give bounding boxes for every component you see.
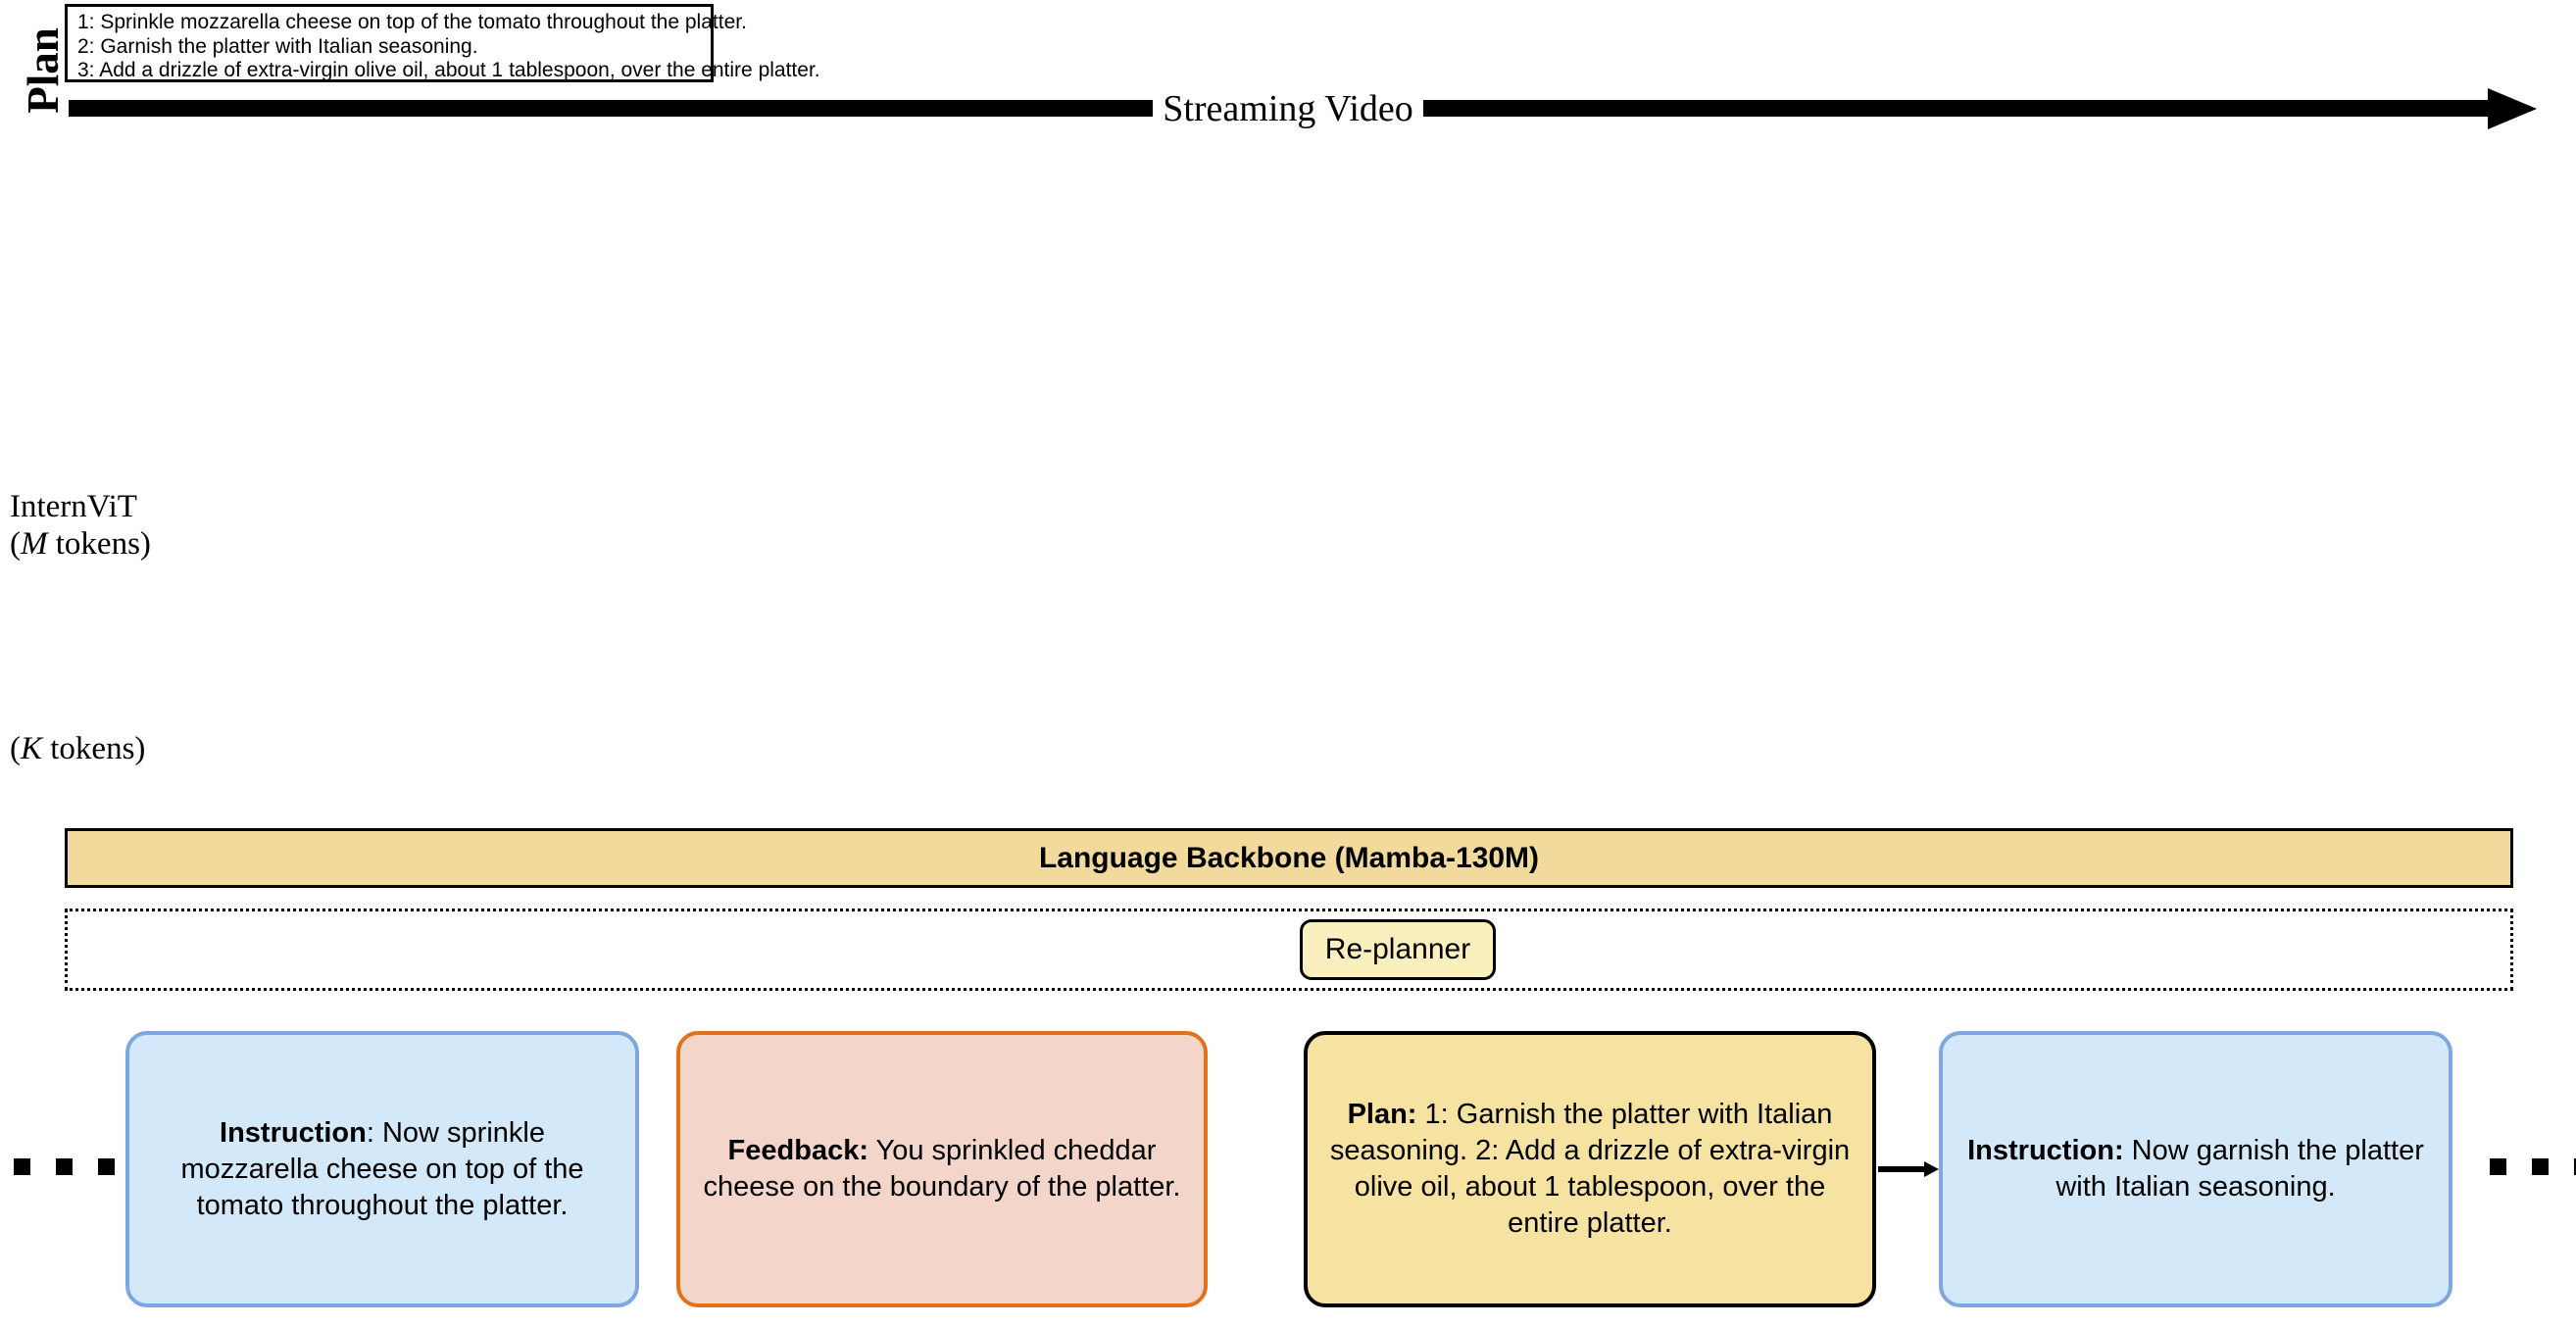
streaming-video-label: Streaming Video [1153, 88, 1423, 129]
card-bold-label: Instruction [220, 1117, 367, 1149]
replanner-label: Re-planner [1325, 933, 1470, 966]
plan-line-1: 1: Sprinkle mozzarella cheese on top of … [77, 11, 703, 35]
replanner-box[interactable]: Re-planner [1300, 919, 1496, 980]
dot [14, 1158, 30, 1175]
ellipsis-left [14, 1158, 115, 1175]
language-backbone-label: Language Backbone (Mamba-130M) [1039, 842, 1539, 875]
internvit-label: InternViT (M tokens) [10, 488, 151, 563]
dot [2490, 1158, 2506, 1175]
internvit-label-line1: InternViT [10, 488, 151, 525]
card-instruction-1-text: Instruction: Now sprinkle mozzarella che… [149, 1115, 616, 1224]
dot [2532, 1158, 2549, 1175]
language-backbone-bar: Language Backbone (Mamba-130M) [65, 828, 2513, 888]
card-bold-label: Instruction: [1967, 1135, 2124, 1166]
plan-to-instruction-arrow [1878, 1161, 1939, 1177]
streaming-video-arrow: Streaming Video [0, 86, 2576, 131]
card-plan-text: Plan: 1: Garnish the platter with Italia… [1327, 1097, 1853, 1242]
card-feedback: Feedback: You sprinkled cheddar cheese o… [676, 1031, 1208, 1307]
card-bold-label: Feedback: [728, 1135, 868, 1166]
card-instruction-2-text: Instruction: Now garnish the platter wit… [1962, 1133, 2429, 1205]
internvit-label-line2: (M tokens) [10, 525, 151, 563]
plan-line-3: 3: Add a drizzle of extra-virgin olive o… [77, 59, 703, 83]
plan-line-2: 2: Garnish the platter with Italian seas… [77, 35, 703, 60]
card-bold-label: Plan: [1348, 1099, 1417, 1130]
plan-box: 1: Sprinkle mozzarella cheese on top of … [65, 4, 714, 82]
arrow-shaft [1878, 1166, 1924, 1172]
arrow-head-icon [1924, 1161, 1939, 1177]
card-instruction-1: Instruction: Now sprinkle mozzarella che… [125, 1031, 639, 1307]
streaming-video-label-wrap: Streaming Video [0, 86, 2576, 131]
card-feedback-text: Feedback: You sprinkled cheddar cheese o… [700, 1133, 1184, 1205]
dot [98, 1158, 115, 1175]
replanner-band [65, 909, 2513, 991]
card-plan: Plan: 1: Garnish the platter with Italia… [1304, 1031, 1876, 1307]
dot [56, 1158, 73, 1175]
k-tokens-label: (K tokens) [10, 730, 145, 767]
figure-root: Plan 1: Sprinkle mozzarella cheese on to… [0, 0, 2576, 1327]
ellipsis-right [2490, 1158, 2576, 1175]
card-instruction-2: Instruction: Now garnish the platter wit… [1939, 1031, 2452, 1307]
